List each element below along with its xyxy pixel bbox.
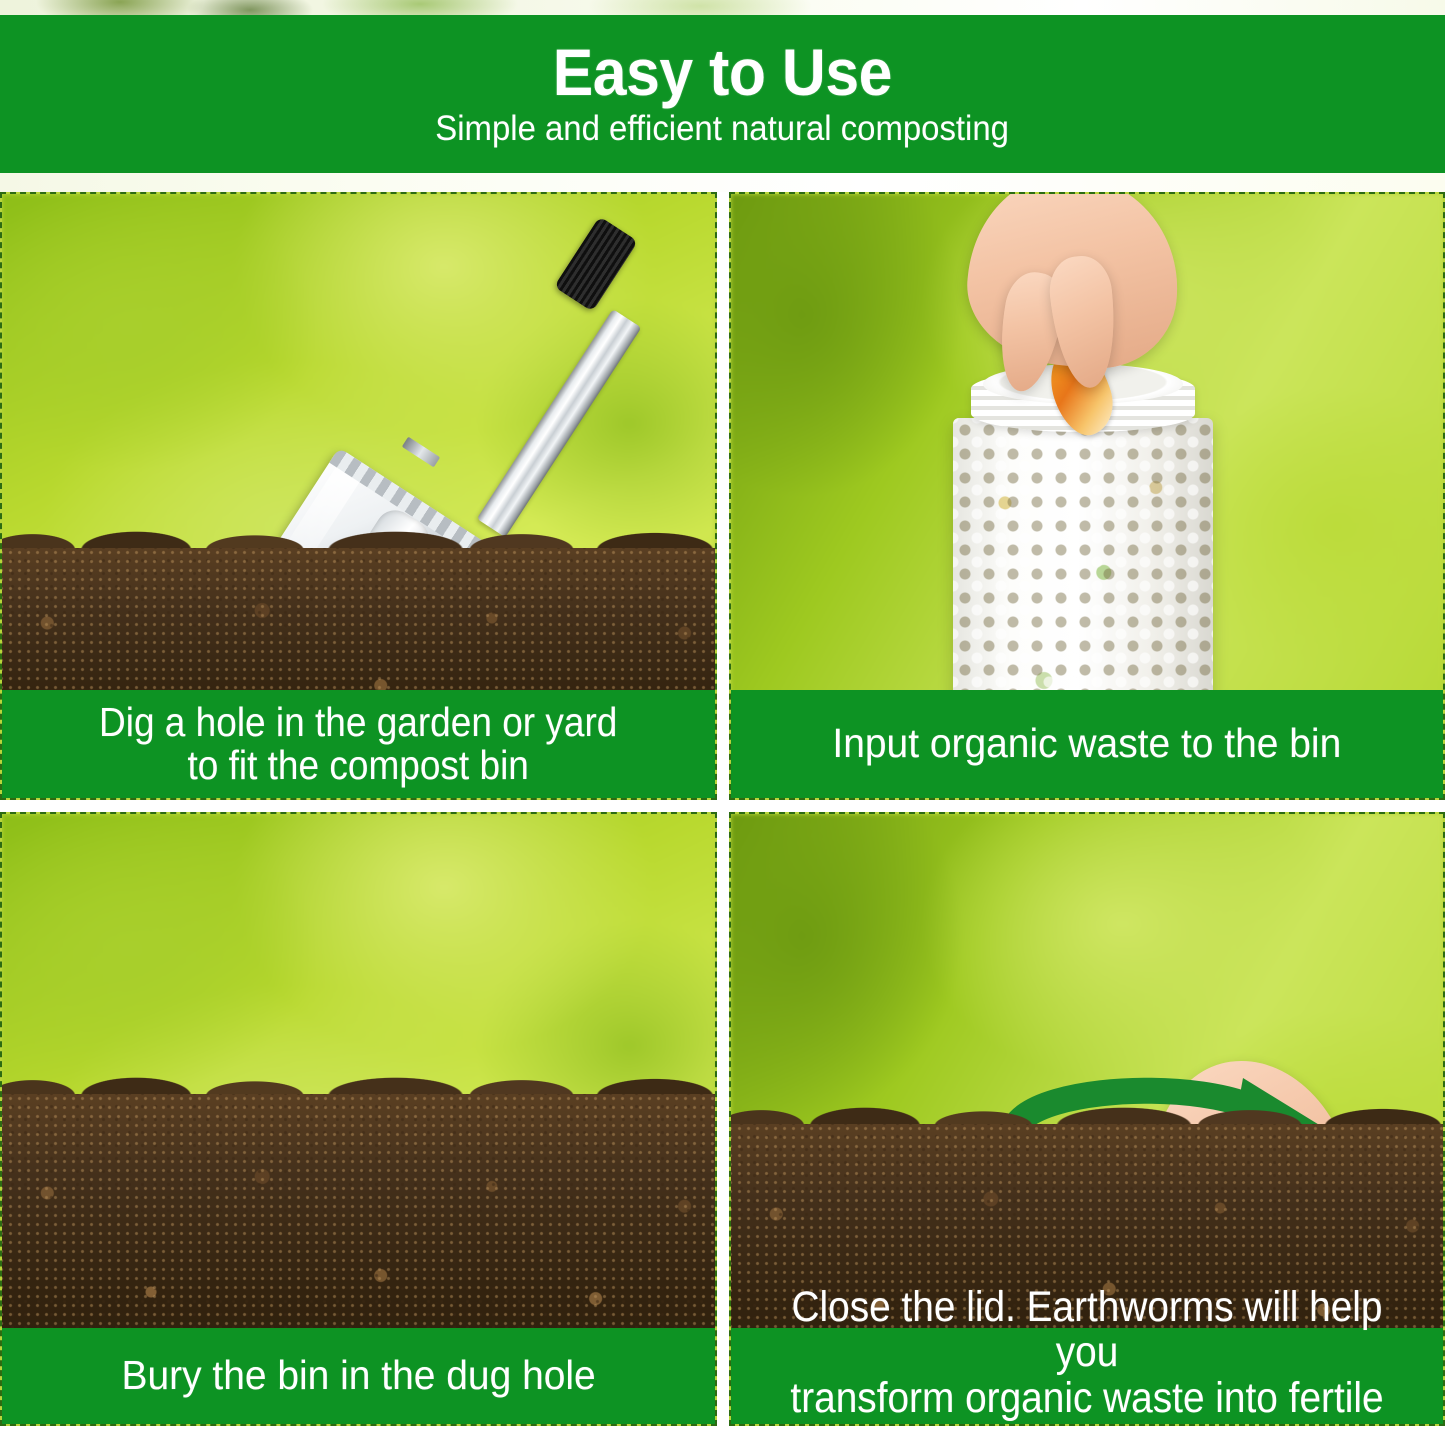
step-4-caption-line-2: transform organic waste into fertile soi… [769,1376,1404,1426]
step-2-caption: Input organic waste to the bin [731,690,1443,798]
step-1-caption-text: Dig a hole in the garden or yardto fit t… [67,701,651,788]
soil-crest [2,516,715,550]
page-title: Easy to Use [553,39,892,105]
step-1-caption-line-2: to fit the compost bin [179,744,538,787]
step-panel-1: Dig a hole in the garden or yardto fit t… [0,192,717,800]
soil-crest [2,1062,715,1096]
step-4-caption: Close the lid. Earthworms will help yout… [731,1328,1443,1424]
step-1-caption-line-1: Dig a hole in the garden or yard [90,701,626,744]
trowel-grip-icon [554,216,638,312]
soil-crest [731,1092,1443,1126]
step-2-caption-text: Input organic waste to the bin [823,722,1351,765]
trowel-shaft-icon [477,309,642,537]
top-leaf-strip [0,0,1445,15]
banner-underlay [0,173,1445,192]
page-subtitle: Simple and efficient natural composting [436,111,1010,146]
trowel-collar-icon [402,437,440,468]
step-3-caption: Bury the bin in the dug hole [2,1328,715,1424]
step-panel-2: Input organic waste to the bin [729,192,1445,800]
step-panel-3: Bury the bin in the dug hole [0,812,717,1426]
step-4-caption-line-1: Close the lid. Earthworms will help you [769,1285,1404,1376]
step-4-caption-text: Close the lid. Earthworms will help yout… [749,1285,1425,1426]
step-1-caption: Dig a hole in the garden or yardto fit t… [2,690,715,798]
bottom-margin [0,1426,1445,1445]
steps-grid: Dig a hole in the garden or yardto fit t… [0,192,1445,1426]
header-banner: Easy to Use Simple and efficient natural… [0,15,1445,173]
step-3-caption-text: Bury the bin in the dug hole [112,1354,605,1397]
step-panel-4: Close the lid. Earthworms will help yout… [729,812,1445,1426]
